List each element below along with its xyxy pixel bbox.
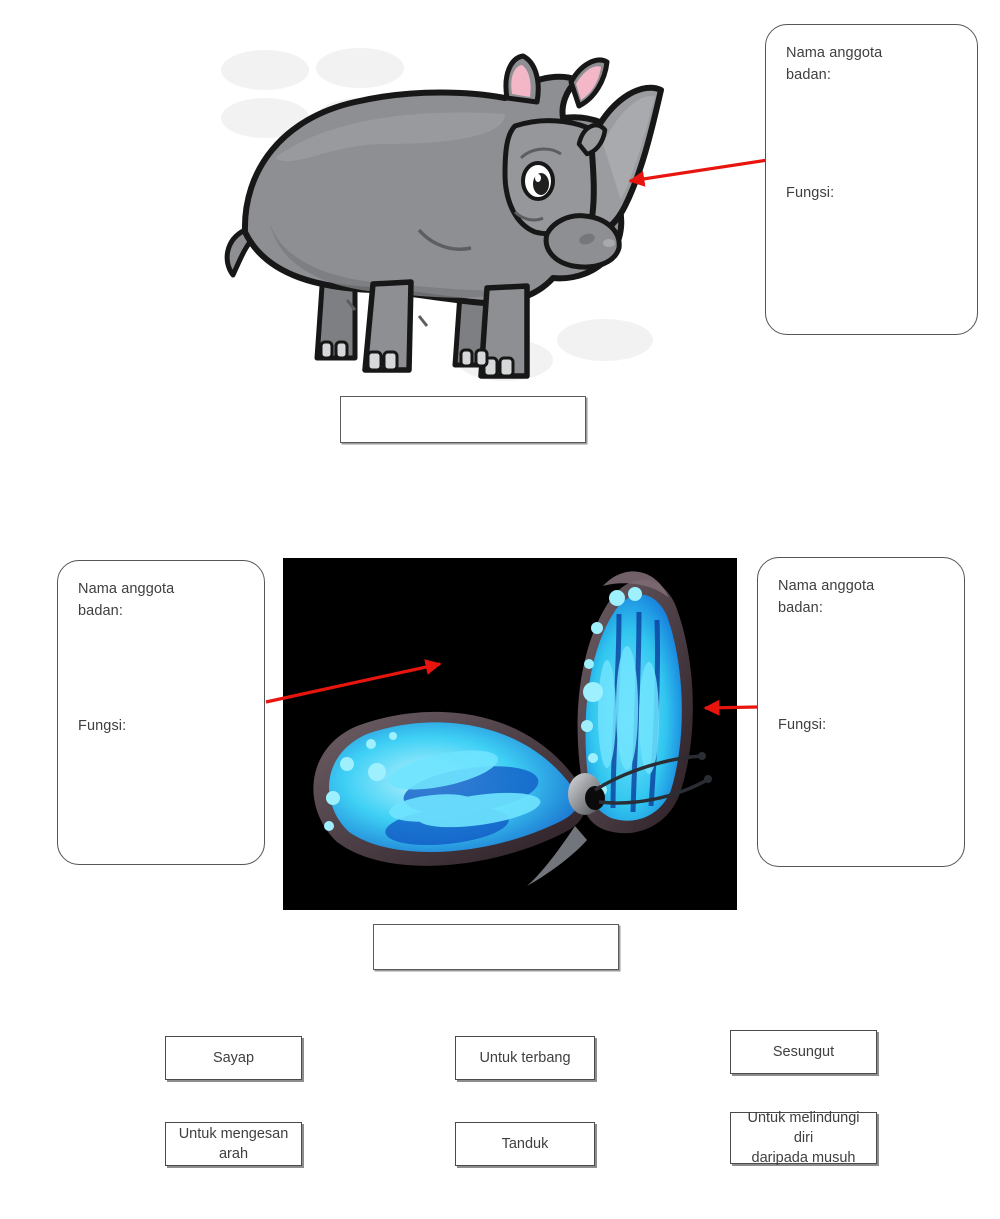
function-field-label: Fungsi: — [778, 715, 826, 737]
body-part-field-label: Nama anggota badan: — [786, 43, 957, 87]
worksheet-page: Nama anggota badan: Fungsi: Nama anggota… — [0, 0, 1000, 1219]
word-bank-chip-untuk-terbang[interactable]: Untuk terbang — [455, 1036, 595, 1080]
chip-label: Tanduk — [502, 1134, 549, 1154]
word-bank-chip-sayap[interactable]: Sayap — [165, 1036, 302, 1080]
chip-label: Untuk terbang — [479, 1048, 570, 1068]
butterfly-image — [283, 558, 737, 910]
body-part-field-label: Nama anggota badan: — [778, 576, 944, 620]
chip-label: Sesungut — [773, 1042, 834, 1062]
word-bank-chip-untuk-mengesan-arah[interactable]: Untuk mengesan arah — [165, 1122, 302, 1166]
label-card-butterfly-antenna[interactable]: Nama anggota badan: Fungsi: — [757, 557, 965, 867]
rhino-name-answer-box[interactable] — [340, 396, 586, 443]
butterfly-name-answer-box[interactable] — [373, 924, 619, 970]
word-bank-chip-untuk-melindungi-diri[interactable]: Untuk melindungi diri daripada musuh — [730, 1112, 877, 1164]
chip-label: Sayap — [213, 1048, 254, 1068]
chip-label: Untuk melindungi diri daripada musuh — [737, 1108, 870, 1169]
word-bank-chip-sesungut[interactable]: Sesungut — [730, 1030, 877, 1074]
chip-label: Untuk mengesan arah — [172, 1124, 295, 1165]
label-card-butterfly-wing[interactable]: Nama anggota badan: Fungsi: — [57, 560, 265, 865]
label-card-rhino-horn[interactable]: Nama anggota badan: Fungsi: — [765, 24, 978, 335]
function-field-label: Fungsi: — [78, 716, 126, 738]
body-part-field-label: Nama anggota badan: — [78, 579, 244, 623]
function-field-label: Fungsi: — [786, 183, 834, 205]
word-bank-chip-tanduk[interactable]: Tanduk — [455, 1122, 595, 1166]
rhinoceros-image — [205, 40, 685, 385]
